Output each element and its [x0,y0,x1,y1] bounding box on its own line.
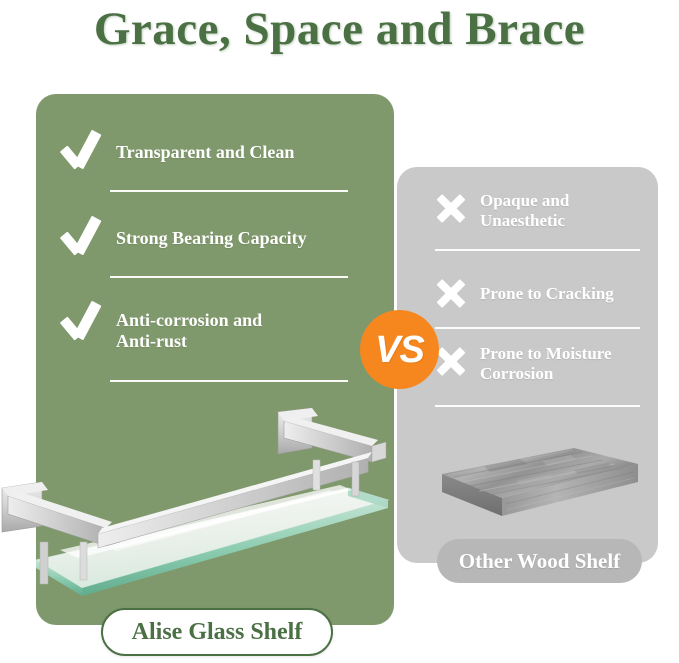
x-icon [434,277,468,309]
vs-badge-label: VS [375,331,424,369]
check-icon [58,218,102,258]
divider-right-3 [435,405,640,407]
check-icon [58,132,102,172]
divider-right-2 [435,327,640,329]
feature-label-left-3: Anti-corrosion and Anti-rust [116,310,262,352]
divider-left-1 [110,190,348,192]
feature-row-left-1: Transparent and Clean [58,132,368,172]
feature-row-right-2: Prone to Cracking [434,277,649,309]
product-label-alise-glass-shelf: Alise Glass Shelf [101,608,333,656]
feature-label-right-2: Prone to Cracking [480,284,614,304]
wood-shelf-product-image [424,444,648,544]
feature-label-right-3: Prone to Moisture Corrosion [480,344,612,384]
glass-shelf-product-image [0,400,420,600]
page-title: Grace, Space and Brace [0,2,679,56]
feature-row-right-1: Opaque and Unaesthetic [434,192,649,231]
product-label-other-wood-shelf: Other Wood Shelf [437,539,642,583]
x-icon [434,345,468,377]
feature-label-left-2: Strong Bearing Capacity [116,228,307,249]
divider-left-2 [110,276,348,278]
feature-row-left-3: Anti-corrosion and Anti-rust [58,303,368,352]
divider-right-1 [435,249,640,251]
divider-left-3 [110,380,348,382]
feature-row-right-3: Prone to Moisture Corrosion [434,345,649,384]
x-icon [434,192,468,224]
feature-label-left-1: Transparent and Clean [116,142,294,163]
vs-badge: VS [360,310,439,389]
feature-row-left-2: Strong Bearing Capacity [58,218,368,258]
comparison-infographic: Grace, Space and Brace Transparent and C… [0,0,679,663]
feature-label-right-1: Opaque and Unaesthetic [480,191,569,231]
check-icon [58,303,102,343]
